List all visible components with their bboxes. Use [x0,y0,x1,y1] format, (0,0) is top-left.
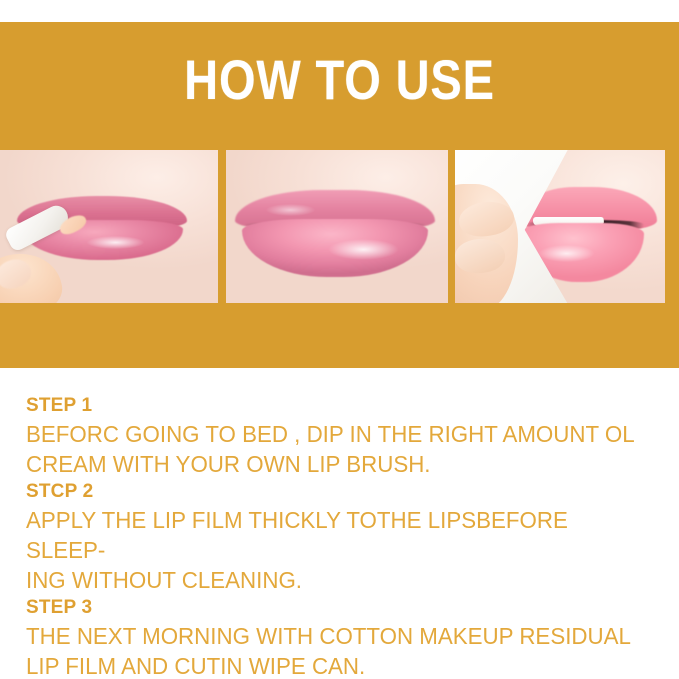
step-label: STCP 2 [26,479,666,505]
lip-gloss-highlight [539,245,594,262]
photo-glossy-pink-lips [226,150,448,303]
photo-applying-cream-with-lip-brush [0,150,218,303]
step-text: BEFORC GOING TO BED , DIP IN THE RIGHT A… [26,419,647,479]
instruction-step: STEP 1 BEFORC GOING TO BED , DIP IN THE … [26,393,666,479]
step-text: THE NEXT MORNING WITH COTTON MAKEUP RESI… [26,621,647,679]
product-instruction-infographic: HOW TO USE [0,0,679,679]
step-label: STEP 3 [26,595,666,621]
step-text: APPLY THE LIP FILM THICKLY TOTHE LIPSBEF… [26,505,647,595]
instruction-step: STEP 3 THE NEXT MORNING WITH COTTON MAKE… [26,595,666,679]
photo-strip [0,150,679,303]
step-label: STEP 1 [26,393,666,419]
instructions-list: STEP 1 BEFORC GOING TO BED , DIP IN THE … [26,393,666,679]
instruction-step: STCP 2 APPLY THE LIP FILM THICKLY TOTHE … [26,479,666,595]
lower-lip-gloss-highlight [328,239,399,260]
photo-wiping-with-cotton-pad [455,150,665,303]
page-title: HOW TO USE [54,50,624,110]
upper-lip-gloss-highlight [266,204,315,216]
